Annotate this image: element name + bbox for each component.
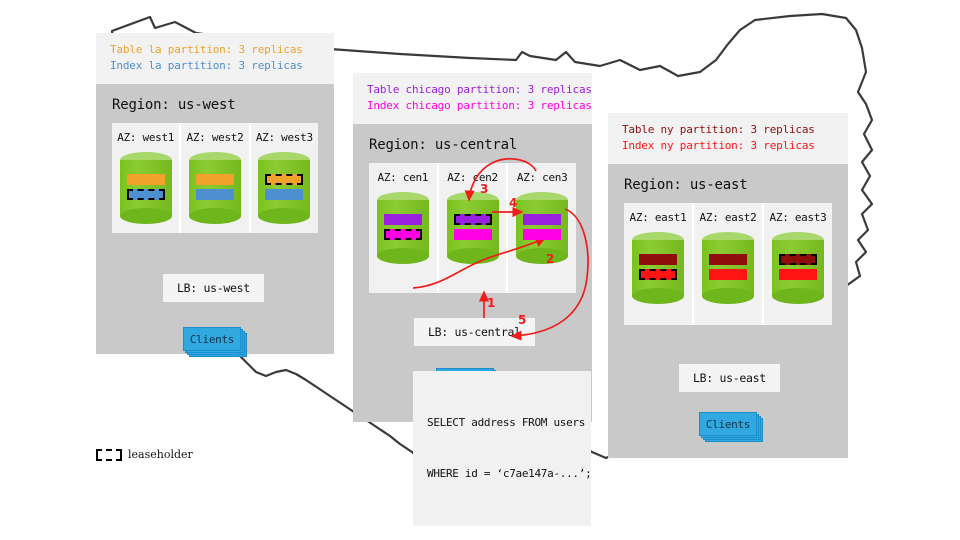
cylinder-bottom [258, 208, 310, 224]
az-label-cen1: AZ: cen1 [378, 171, 429, 184]
node-cylinder-east2[interactable] [702, 232, 754, 304]
sql-query-box: SELECT address FROM users WHERE id = ‘c7… [413, 371, 591, 526]
node-cylinder-east1[interactable] [632, 232, 684, 304]
az-label-cen2: AZ: cen2 [447, 171, 498, 184]
clients-label: Clients [183, 327, 241, 351]
clients-us-east[interactable]: Clients [699, 412, 761, 438]
partition-legend-us-east: Table ny partition: 3 replicas Index ny … [608, 113, 848, 164]
region-us-west: Table la partition: 3 replicas Index la … [96, 33, 334, 354]
az-label-west3: AZ: west3 [256, 131, 313, 144]
cylinder-bottom [772, 288, 824, 304]
partition-line-index: Index ny partition: 3 replicas [622, 138, 834, 154]
replica-bar-index [523, 229, 561, 240]
replica-bar-index [639, 269, 677, 280]
cylinder-bottom [447, 248, 499, 264]
replica-bar-table [196, 174, 234, 185]
replica-bar-table [384, 214, 422, 225]
az-cell-east1[interactable]: AZ: east1 [624, 203, 694, 325]
clients-label: Clients [699, 412, 757, 436]
replica-bars-cen2 [454, 214, 492, 240]
diagram-canvas: Table la partition: 3 replicas Index la … [0, 0, 960, 540]
az-label-west2: AZ: west2 [187, 131, 244, 144]
replica-bar-table [127, 174, 165, 185]
replica-bars-east3 [779, 254, 817, 280]
replica-bars-east1 [639, 254, 677, 280]
az-label-east3: AZ: east3 [770, 211, 827, 224]
az-container-us-east: AZ: east1 AZ: east2 [624, 203, 832, 325]
flow-number-4: 4 [509, 196, 517, 210]
az-label-east2: AZ: east2 [700, 211, 757, 224]
region-body-us-west: Region: us-west AZ: west1 AZ: [96, 84, 334, 354]
node-cylinder-cen1[interactable] [377, 192, 429, 264]
replica-bar-index [779, 269, 817, 280]
region-body-us-east: Region: us-east AZ: east1 AZ: [608, 164, 848, 458]
cylinder-bottom [632, 288, 684, 304]
replica-bar-index [196, 189, 234, 200]
replica-bar-table [454, 214, 492, 225]
cylinder-bottom [377, 248, 429, 264]
cylinder-bottom [189, 208, 241, 224]
region-title-us-central: Region: us-central [353, 124, 592, 163]
flow-number-5: 5 [518, 313, 526, 327]
replica-bar-index [709, 269, 747, 280]
az-label-cen3: AZ: cen3 [517, 171, 568, 184]
load-balancer-us-west[interactable]: LB: us-west [163, 274, 264, 302]
cylinder-bottom [516, 248, 568, 264]
az-cell-east2[interactable]: AZ: east2 [694, 203, 764, 325]
partition-line-table: Table la partition: 3 replicas [110, 42, 320, 58]
az-cell-cen2[interactable]: AZ: cen2 [439, 163, 509, 293]
clients-us-west[interactable]: Clients [183, 327, 245, 353]
az-cell-west3[interactable]: AZ: west3 [251, 123, 318, 233]
replica-bar-table [523, 214, 561, 225]
sql-line-1: SELECT address FROM users [427, 414, 577, 431]
cylinder-bottom [120, 208, 172, 224]
flow-number-3: 3 [480, 182, 488, 196]
az-cell-west2[interactable]: AZ: west2 [181, 123, 250, 233]
az-container-us-west: AZ: west1 AZ: west2 [112, 123, 318, 233]
partition-legend-us-central: Table chicago partition: 3 replicas Inde… [353, 73, 592, 124]
replica-bar-index [454, 229, 492, 240]
node-cylinder-cen2[interactable] [447, 192, 499, 264]
replica-bar-index [384, 229, 422, 240]
sql-line-2: WHERE id = ‘c7ae147a-...’; [427, 465, 577, 482]
replica-bar-index [265, 189, 303, 200]
az-cell-cen3[interactable]: AZ: cen3 [508, 163, 576, 293]
leaseholder-legend-label: leaseholder [128, 448, 193, 461]
region-us-central: Table chicago partition: 3 replicas Inde… [353, 73, 592, 422]
replica-bar-index [127, 189, 165, 200]
region-title-us-east: Region: us-east [608, 164, 848, 203]
node-cylinder-west2[interactable] [189, 152, 241, 221]
node-cylinder-west1[interactable] [120, 152, 172, 221]
dashed-rectangle-icon [96, 449, 122, 461]
replica-bars-cen3 [523, 214, 561, 240]
partition-line-table: Table ny partition: 3 replicas [622, 122, 834, 138]
load-balancer-us-central[interactable]: LB: us-central [414, 318, 535, 346]
flow-number-2: 2 [546, 252, 554, 266]
replica-bars-west1 [127, 174, 165, 200]
partition-line-index: Index la partition: 3 replicas [110, 58, 320, 74]
load-balancer-us-east[interactable]: LB: us-east [679, 364, 780, 392]
cylinder-bottom [702, 288, 754, 304]
node-cylinder-east3[interactable] [772, 232, 824, 304]
replica-bar-table [639, 254, 677, 265]
region-us-east: Table ny partition: 3 replicas Index ny … [608, 113, 848, 458]
replica-bars-east2 [709, 254, 747, 280]
flow-number-1: 1 [487, 296, 495, 310]
az-cell-west1[interactable]: AZ: west1 [112, 123, 181, 233]
partition-line-index: Index chicago partition: 3 replicas [367, 98, 578, 114]
az-cell-cen1[interactable]: AZ: cen1 [369, 163, 439, 293]
node-cylinder-west3[interactable] [258, 152, 310, 221]
replica-bars-west2 [196, 174, 234, 200]
replica-bars-cen1 [384, 214, 422, 240]
replica-bar-table [265, 174, 303, 185]
replica-bar-table [709, 254, 747, 265]
replica-bar-table [779, 254, 817, 265]
node-cylinder-cen3[interactable] [516, 192, 568, 264]
leaseholder-legend: leaseholder [96, 448, 193, 461]
az-label-east1: AZ: east1 [630, 211, 687, 224]
az-container-us-central: AZ: cen1 AZ: cen2 [369, 163, 576, 293]
replica-bars-west3 [265, 174, 303, 200]
az-cell-east3[interactable]: AZ: east3 [764, 203, 832, 325]
region-title-us-west: Region: us-west [96, 84, 334, 123]
partition-line-table: Table chicago partition: 3 replicas [367, 82, 578, 98]
az-label-west1: AZ: west1 [117, 131, 174, 144]
partition-legend-us-west: Table la partition: 3 replicas Index la … [96, 33, 334, 84]
